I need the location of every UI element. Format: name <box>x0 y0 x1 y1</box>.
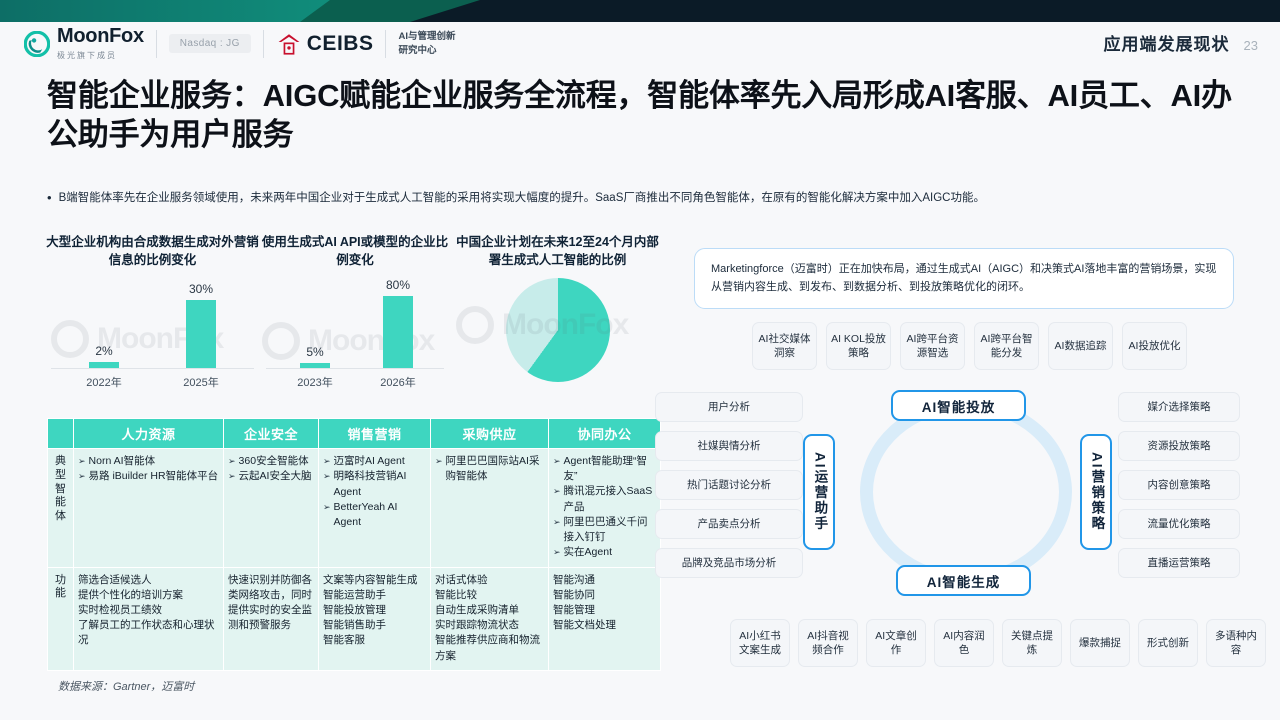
chart-1-bar-0: 2% <box>89 344 119 368</box>
cell-item: 文案等内容智能生成 <box>323 573 426 588</box>
chip-ai-cross-platform-resource[interactable]: AI跨平台资源智选 <box>900 322 965 370</box>
bullet-dot-icon: • <box>47 188 52 209</box>
table-col-sales: 销售营销 <box>319 419 431 449</box>
arrow-bullet-icon: ➢ <box>553 545 561 560</box>
summary-bullet-text: B端智能体率先在企业服务领域使用，未来两年中国企业对于生成式人工智能的采用将实现… <box>59 188 985 209</box>
cell-item: 实时检视员工绩效 <box>78 603 219 618</box>
top-decorative-bar <box>0 0 1280 22</box>
pie-slices <box>506 278 610 382</box>
cell-item: 智能销售助手 <box>323 618 426 633</box>
chip-key-point-extraction[interactable]: 关键点提炼 <box>1002 619 1062 667</box>
chart-2-value-1: 80% <box>386 278 410 292</box>
left-chip-column: 用户分析 社媒舆情分析 热门话题讨论分析 产品卖点分析 品牌及竞品市场分析 <box>655 392 803 578</box>
chart-1-bar-rect-0 <box>89 362 119 368</box>
chart-1-value-0: 2% <box>95 344 112 358</box>
chart-2-xtick-1: 2026年 <box>363 374 433 390</box>
cell-item: 智能管理 <box>553 603 656 618</box>
chip-ai-douyin-video[interactable]: AI抖音视频合作 <box>798 619 858 667</box>
chart-1-plot: MoonFox 2% 2022年 30% 2025年 <box>45 280 260 392</box>
header-divider-1 <box>156 30 157 58</box>
cell-item: 实在Agent <box>564 545 612 560</box>
arrow-bullet-icon: ➢ <box>78 469 86 484</box>
marketingforce-callout: Marketingforce（迈富时）正在加快布局，通过生成式AI（AIGC）和… <box>694 248 1234 309</box>
ceibs-tagline-line1: AI与管理创新 <box>398 30 455 44</box>
table-header-row: 人力资源 企业安全 销售营销 采购供应 协同办公 <box>48 419 661 449</box>
chip-format-innovation[interactable]: 形式创新 <box>1138 619 1198 667</box>
header-divider-3 <box>385 30 386 58</box>
ceibs-tagline-line2: 研究中心 <box>398 44 455 58</box>
cell-item: 明略科技营销AI Agent <box>334 469 426 499</box>
chip-viral-capture[interactable]: 爆款捕捉 <box>1070 619 1130 667</box>
chart-bar-genai-api: 使用生成式AI API或模型的企业比例变化 MoonFox 5% 2023年 8… <box>260 234 450 414</box>
arrow-bullet-icon: ➢ <box>228 469 236 484</box>
chart-2-axis <box>266 368 444 369</box>
chip-brand-competitor-analysis[interactable]: 品牌及竞品市场分析 <box>655 548 803 578</box>
chip-ai-cross-platform-distribution[interactable]: AI跨平台智能分发 <box>974 322 1039 370</box>
cell-item: 360安全智能体 <box>239 454 309 469</box>
table-cell: ➢迈富时AI Agent ➢明略科技营销AI Agent ➢BetterYeah… <box>319 449 431 568</box>
chart-2-bar-rect-1 <box>383 296 413 368</box>
chip-ai-xiaohongshu-copy[interactable]: AI小红书文案生成 <box>730 619 790 667</box>
chart-3-title: 中国企业计划在未来12至24个月内部署生成式人工智能的比例 <box>450 234 665 270</box>
chart-1-xtick-1: 2025年 <box>166 374 236 390</box>
cell-item: 智能协同 <box>553 588 656 603</box>
chip-ai-article-creation[interactable]: AI文章创作 <box>866 619 926 667</box>
chart-2-bar-0: 5% <box>300 345 330 368</box>
page-title: 智能企业服务：AIGC赋能企业服务全流程，智能体率先入局形成AI客服、AI员工、… <box>47 76 1247 154</box>
cell-item: Agent智能助理“智友” <box>564 454 656 484</box>
cell-item: 阿里巴巴国际站AI采购智能体 <box>446 454 544 484</box>
chip-resource-delivery-strategy[interactable]: 资源投放策略 <box>1118 431 1240 461</box>
chip-live-operation-strategy[interactable]: 直播运营策略 <box>1118 548 1240 578</box>
table-cell: 对话式体验 智能比较 自动生成采购清单 实时跟踪物流状态 智能推荐供应商和物流方… <box>431 567 549 670</box>
page-section-indicator: 应用端发展现状 23 <box>1104 30 1258 55</box>
cell-item: 智能运营助手 <box>323 588 426 603</box>
row-label-functions: 功能 <box>48 567 74 670</box>
arrow-bullet-icon: ➢ <box>323 469 331 499</box>
cell-item: 自动生成采购清单 <box>435 603 544 618</box>
bottom-chip-row: AI小红书文案生成 AI抖音视频合作 AI文章创作 AI内容润色 关键点提炼 爆… <box>730 619 1266 667</box>
cell-item: 云起AI安全大脑 <box>239 469 312 484</box>
table-cell: 文案等内容智能生成 智能运营助手 智能投放管理 智能销售助手 智能客服 <box>319 567 431 670</box>
top-bar-shape <box>0 0 1280 22</box>
table-corner-cell <box>48 419 74 449</box>
table-row: 典型智能体 ➢Norn AI智能体 ➢易路 iBuilder HR智能体平台 ➢… <box>48 449 661 568</box>
table-cell: ➢Agent智能助理“智友” ➢腾讯混元接入SaaS产品 ➢阿里巴巴通义千问接入… <box>549 449 661 568</box>
cell-item: 筛选合适候选人 <box>78 573 219 588</box>
cell-item: 对话式体验 <box>435 573 544 588</box>
table-cell: 快速识别并防御各类网络攻击，同时提供实时的安全监测和预警服务 <box>224 567 319 670</box>
cell-item: 了解员工的工作状态和心理状况 <box>78 618 219 648</box>
chip-hot-topic-analysis[interactable]: 热门话题讨论分析 <box>655 470 803 500</box>
page-header: MoonFox 极光旗下成员 Nasdaq : JG CEIBS AI与管理创新… <box>0 24 1280 70</box>
section-title: 应用端发展现状 <box>1104 30 1230 55</box>
brand-subtitle: 极光旗下成员 <box>57 50 144 61</box>
cell-item: 迈富时AI Agent <box>334 454 405 469</box>
cell-item: Norn AI智能体 <box>89 454 156 469</box>
arrow-bullet-icon: ➢ <box>553 454 561 484</box>
chip-social-sentiment[interactable]: 社媒舆情分析 <box>655 431 803 461</box>
cell-item: 智能投放管理 <box>323 603 426 618</box>
arrow-bullet-icon: ➢ <box>78 454 86 469</box>
node-ai-smart-generation[interactable]: AI智能生成 <box>896 565 1031 596</box>
arrow-bullet-icon: ➢ <box>553 515 561 545</box>
node-ai-marketing-strategy[interactable]: AI营销策略 <box>1080 434 1112 550</box>
chart-1-xtick-0: 2022年 <box>69 374 139 390</box>
chip-content-creative-strategy[interactable]: 内容创意策略 <box>1118 470 1240 500</box>
node-ai-operation-assistant[interactable]: AI运营助手 <box>803 434 835 550</box>
chart-1-value-1: 30% <box>189 282 213 296</box>
chart-1-title: 大型企业机构由合成数据生成对外营销信息的比例变化 <box>45 234 260 270</box>
cell-item: 阿里巴巴通义千问接入钉钉 <box>564 515 656 545</box>
chart-1-axis <box>51 368 254 369</box>
chip-multilingual-content[interactable]: 多语种内容 <box>1206 619 1266 667</box>
cell-item: 智能客服 <box>323 633 426 648</box>
cell-item: 易路 iBuilder HR智能体平台 <box>89 469 219 484</box>
table-cell: ➢360安全智能体 ➢云起AI安全大脑 <box>224 449 319 568</box>
chip-media-selection-strategy[interactable]: 媒介选择策略 <box>1118 392 1240 422</box>
chip-ai-delivery-optimization[interactable]: AI投放优化 <box>1122 322 1187 370</box>
chip-product-selling-point[interactable]: 产品卖点分析 <box>655 509 803 539</box>
chip-ai-data-tracking[interactable]: AI数据追踪 <box>1048 322 1113 370</box>
table-cell: ➢阿里巴巴国际站AI采购智能体 <box>431 449 549 568</box>
chart-2-title: 使用生成式AI API或模型的企业比例变化 <box>260 234 450 270</box>
node-ai-smart-delivery[interactable]: AI智能投放 <box>891 390 1026 421</box>
cell-item: 腾讯混元接入SaaS产品 <box>564 484 656 514</box>
page-number: 23 <box>1244 38 1258 53</box>
chart-1-bar-1: 30% <box>186 282 216 368</box>
chip-ai-kol-strategy[interactable]: AI KOL投放策略 <box>826 322 891 370</box>
cell-item: 智能比较 <box>435 588 544 603</box>
ceibs-name: CEIBS <box>307 32 374 56</box>
chart-2-plot: MoonFox 5% 2023年 80% 2026年 <box>260 296 450 392</box>
arrow-bullet-icon: ➢ <box>435 454 443 484</box>
nasdaq-ticker-badge: Nasdaq : JG <box>169 34 251 53</box>
table-cell: ➢Norn AI智能体 ➢易路 iBuilder HR智能体平台 <box>74 449 224 568</box>
cell-item: 快速识别并防御各类网络攻击，同时提供实时的安全监测和预警服务 <box>228 573 314 634</box>
chart-bar-synthetic-data: 大型企业机构由合成数据生成对外营销信息的比例变化 MoonFox 2% 2022… <box>45 234 260 414</box>
arrow-bullet-icon: ➢ <box>323 500 331 530</box>
header-divider-2 <box>263 30 264 58</box>
top-chip-row: AI社交媒体洞察 AI KOL投放策略 AI跨平台资源智选 AI跨平台智能分发 … <box>752 322 1187 370</box>
table-row: 功能 筛选合适候选人 提供个性化的培训方案 实时检视员工绩效 了解员工的工作状态… <box>48 567 661 670</box>
cell-item: 智能文档处理 <box>553 618 656 633</box>
chip-ai-social-insight[interactable]: AI社交媒体洞察 <box>752 322 817 370</box>
chart-pie-deployment-plan: 中国企业计划在未来12至24个月内部署生成式人工智能的比例 MoonFox <box>450 234 665 414</box>
moonfox-logo-icon <box>24 31 50 57</box>
table-cell: 智能沟通 智能协同 智能管理 智能文档处理 <box>549 567 661 670</box>
chip-ai-content-polish[interactable]: AI内容润色 <box>934 619 994 667</box>
table-col-collaboration: 协同办公 <box>549 419 661 449</box>
table-col-procurement: 采购供应 <box>431 419 549 449</box>
cell-item: 提供个性化的培训方案 <box>78 588 219 603</box>
chart-2-bar-rect-0 <box>300 363 330 368</box>
cell-item: BetterYeah AI Agent <box>334 500 426 530</box>
ceibs-logo-icon <box>276 31 302 57</box>
source-note: 数据来源：Gartner，迈富时 <box>58 678 194 694</box>
table-col-security: 企业安全 <box>224 419 319 449</box>
summary-bullet: • B端智能体率先在企业服务领域使用，未来两年中国企业对于生成式人工智能的采用将… <box>47 188 1239 209</box>
right-chip-column: 媒介选择策略 资源投放策略 内容创意策略 流量优化策略 直播运营策略 <box>1118 392 1240 578</box>
chip-user-analysis[interactable]: 用户分析 <box>655 392 803 422</box>
charts-row: 大型企业机构由合成数据生成对外营销信息的比例变化 MoonFox 2% 2022… <box>45 234 665 414</box>
arrow-bullet-icon: ➢ <box>323 454 331 469</box>
cell-item: 实时跟踪物流状态 <box>435 618 544 633</box>
cell-item: 智能沟通 <box>553 573 656 588</box>
brand-bar: MoonFox 极光旗下成员 Nasdaq : JG CEIBS AI与管理创新… <box>24 26 455 61</box>
chart-2-bar-1: 80% <box>383 278 413 368</box>
chart-2-value-0: 5% <box>306 345 323 359</box>
brand-name: MoonFox <box>57 26 144 46</box>
agent-matrix-table: 人力资源 企业安全 销售营销 采购供应 协同办公 典型智能体 ➢Norn AI智… <box>47 418 661 671</box>
table-cell: 筛选合适候选人 提供个性化的培训方案 实时检视员工绩效 了解员工的工作状态和心理… <box>74 567 224 670</box>
chart-2-xtick-0: 2023年 <box>280 374 350 390</box>
arrow-bullet-icon: ➢ <box>228 454 236 469</box>
table-col-hr: 人力资源 <box>74 419 224 449</box>
chip-traffic-optimization-strategy[interactable]: 流量优化策略 <box>1118 509 1240 539</box>
row-label-typical-agents: 典型智能体 <box>48 449 74 568</box>
arrow-bullet-icon: ➢ <box>553 484 561 514</box>
cell-item: 智能推荐供应商和物流方案 <box>435 633 544 663</box>
cycle-ring-graphic <box>860 398 1072 586</box>
chart-1-bar-rect-1 <box>186 300 216 368</box>
